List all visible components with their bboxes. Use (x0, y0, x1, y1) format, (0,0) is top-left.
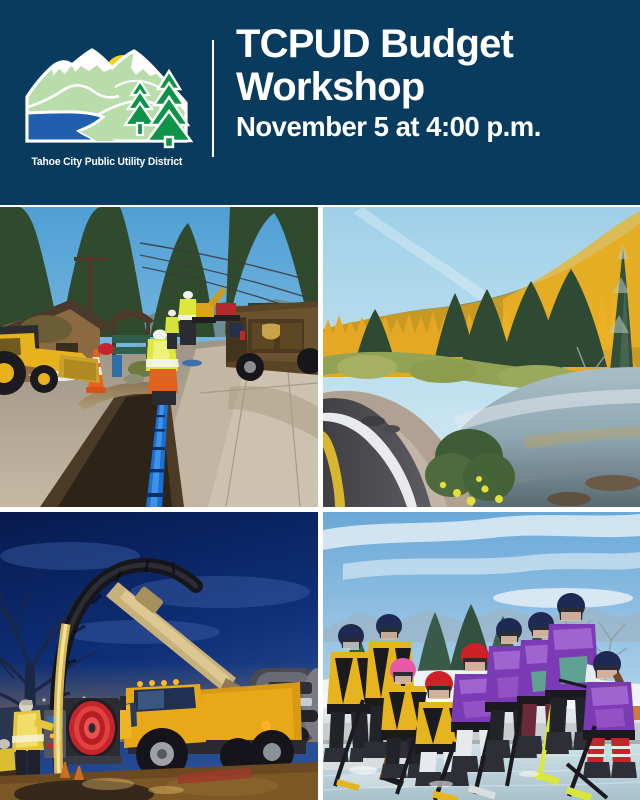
ups-truck (226, 301, 318, 381)
page-title-line-2: Workshop (236, 66, 636, 109)
vactor-sewer-truck-photo (0, 512, 318, 800)
tcpud-logo (19, 41, 195, 153)
header-divider (212, 40, 214, 157)
photo-grid (0, 207, 640, 800)
page-title-line-1: TCPUD Budget (236, 23, 636, 66)
title-block: TCPUD Budget Workshop November 5 at 4:00… (236, 23, 636, 143)
truckee-river-trail-photo (323, 207, 640, 507)
event-datetime: November 5 at 4:00 p.m. (236, 112, 636, 142)
youth-hockey-team-photo (323, 512, 640, 800)
logo-caption: Tahoe City Public Utility District (31, 156, 182, 168)
hose-reel (60, 698, 122, 764)
budget-workshop-flyer: Tahoe City Public Utility District TCPUD… (0, 0, 640, 800)
logo-block: Tahoe City Public Utility District (0, 0, 213, 205)
waterline-construction-photo (0, 207, 318, 507)
flyer-header: Tahoe City Public Utility District TCPUD… (0, 0, 640, 205)
